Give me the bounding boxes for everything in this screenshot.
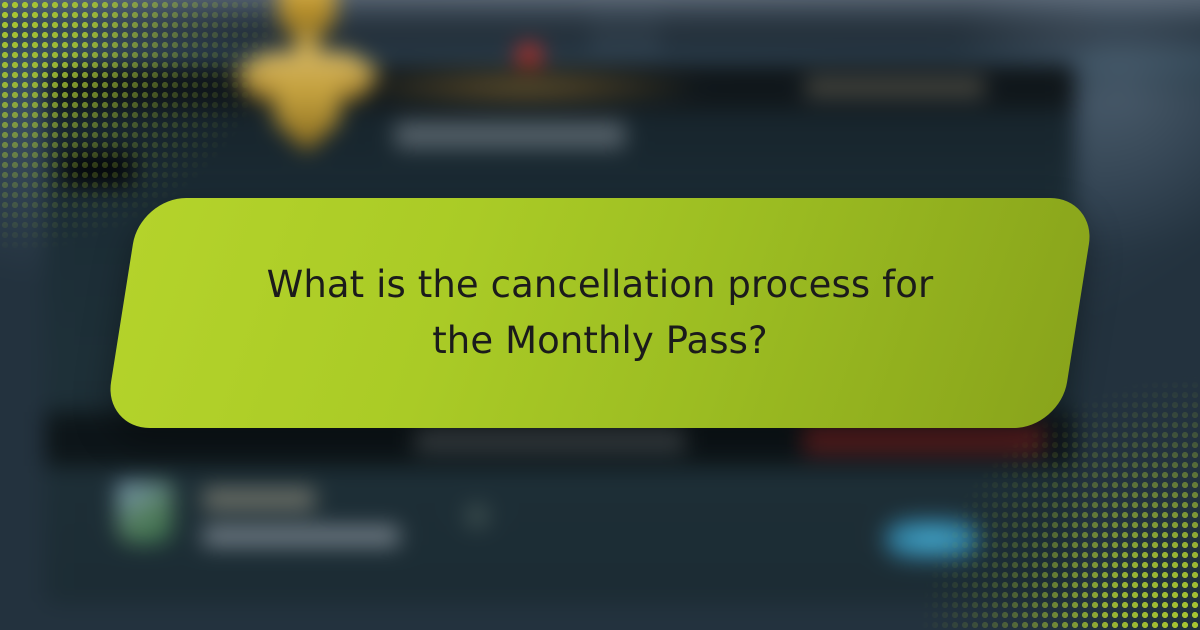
list-item-title-placeholder (203, 488, 315, 510)
list-item-subtitle-placeholder (203, 526, 399, 546)
confirm-button (884, 519, 980, 559)
panel-topbar-chip (805, 76, 985, 98)
question-text: What is the cancellation process for the… (250, 257, 950, 369)
emblem-shield (274, 78, 340, 152)
avatar (117, 482, 173, 544)
gold-trophy-emblem-icon (232, 0, 382, 154)
list-item-status-icon (465, 504, 489, 528)
panel-topbar-glow (345, 66, 705, 108)
panel-dark-block (63, 152, 133, 186)
question-card-inner: What is the cancellation process for the… (122, 198, 1078, 428)
question-card: What is the cancellation process for the… (104, 198, 1096, 428)
panel-footer-label-placeholder (415, 426, 685, 452)
screenshot-canvas: What is the cancellation process for the… (0, 0, 1200, 630)
panel-heading-placeholder (395, 122, 625, 148)
panel-topbar (45, 64, 1075, 110)
